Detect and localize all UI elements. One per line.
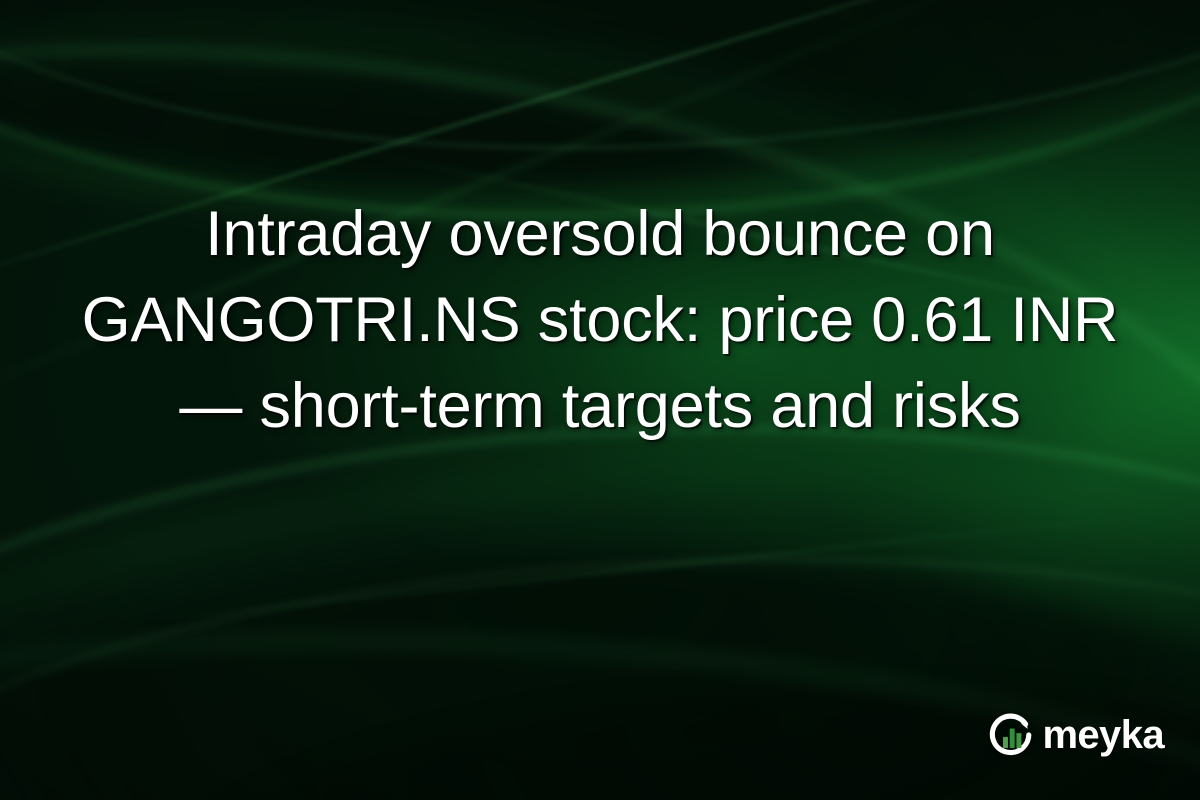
brand-wordmark: meyka [1042,715,1164,755]
meyka-logo-icon [989,712,1035,758]
brand-logo[interactable]: meyka [989,712,1164,758]
page-title: Intraday oversold bounce on GANGOTRI.NS … [48,191,1152,450]
headline-container: Intraday oversold bounce on GANGOTRI.NS … [0,0,1200,640]
article-banner-card: Intraday oversold bounce on GANGOTRI.NS … [0,0,1200,800]
